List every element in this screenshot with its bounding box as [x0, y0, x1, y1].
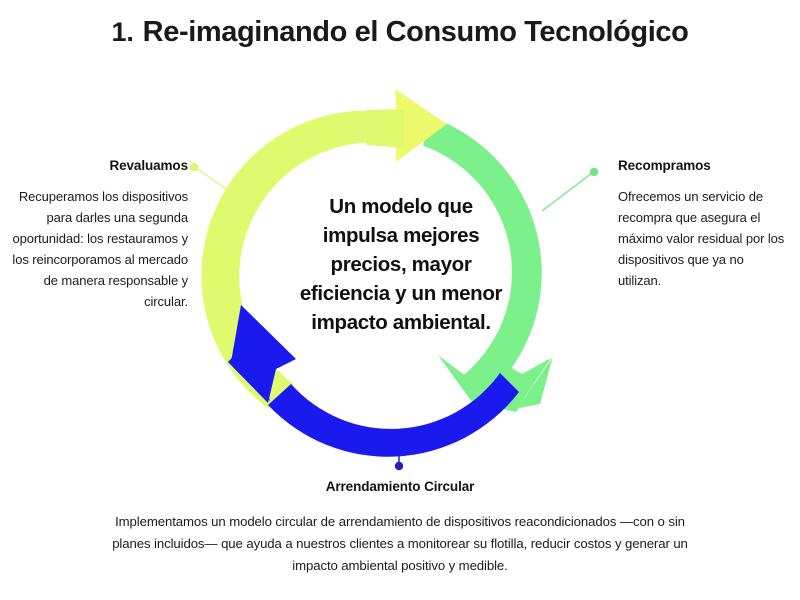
callout-revaluamos: Revaluamos Recuperamos los dispositivos …	[12, 158, 188, 312]
callout-revaluamos-heading: Revaluamos	[12, 158, 188, 173]
callout-recompramos: Recompramos Ofrecemos un servicio de rec…	[618, 158, 788, 291]
callout-arrendamiento: Arrendamiento Circular Implementamos un …	[100, 479, 700, 578]
callout-recompramos-body: Ofrecemos un servicio de recompra que as…	[618, 186, 788, 291]
connector-right	[542, 168, 598, 211]
callout-revaluamos-body: Recuperamos los dispositivos para darles…	[12, 186, 188, 312]
connector-dot-right	[590, 168, 598, 176]
callout-arrendamiento-heading: Arrendamiento Circular	[100, 479, 700, 494]
slide-canvas: 1.Re-imaginando el Consumo Tecnológico	[0, 0, 800, 600]
callout-recompramos-heading: Recompramos	[618, 158, 788, 173]
connector-dot-bottom	[395, 462, 403, 470]
center-statement: Un modelo que impulsa mejores precios, m…	[295, 192, 507, 338]
connector-dot-left	[190, 163, 198, 171]
callout-arrendamiento-body: Implementamos un modelo circular de arre…	[100, 511, 700, 578]
